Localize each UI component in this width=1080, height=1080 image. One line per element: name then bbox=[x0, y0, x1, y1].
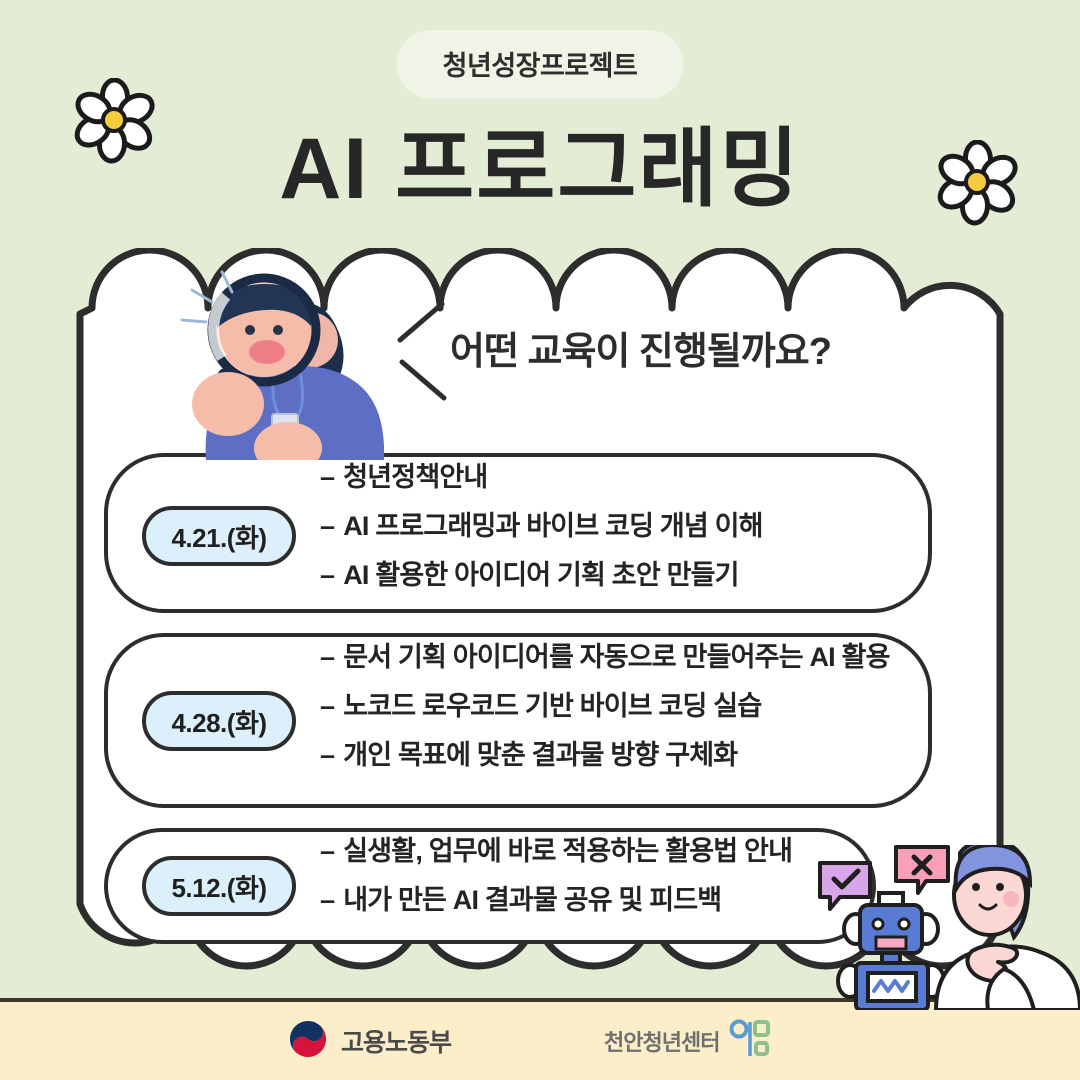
list-item-label: 개인 목표에 맞춘 결과물 방향 구체화 bbox=[343, 740, 737, 770]
bullet-dash: – bbox=[320, 462, 334, 492]
robot-and-woman-illustration bbox=[808, 845, 1080, 1015]
list-item: –문서 기획 아이디어를 자동으로 만들어주는 AI 활용 bbox=[320, 644, 890, 671]
person-with-magnifier-illustration bbox=[170, 268, 386, 465]
bullet-dash: – bbox=[320, 740, 334, 770]
bullet-dash: – bbox=[320, 511, 334, 541]
bullet-dash: – bbox=[320, 642, 334, 672]
daisy-flower-icon bbox=[935, 140, 1021, 231]
list-item: –실생활, 업무에 바로 적용하는 활용법 안내 bbox=[320, 838, 792, 865]
list-item: –내가 만든 AI 결과물 공유 및 피드백 bbox=[320, 887, 792, 914]
page-title: AI 프로그래밍 bbox=[0, 126, 1080, 212]
list-item: –AI 활용한 아이디어 기획 초안 만들기 bbox=[320, 562, 763, 589]
speech-lines-icon bbox=[392, 296, 452, 411]
list-item-label: AI 프로그래밍과 바이브 코딩 개념 이해 bbox=[343, 511, 763, 541]
center-label: 천안청년센터 bbox=[604, 1025, 719, 1057]
ministry-logo: 고용노동부 bbox=[288, 1019, 451, 1064]
schedule-items: –문서 기획 아이디어를 자동으로 만들어주는 AI 활용 –노코드 로우코드 … bbox=[320, 644, 890, 791]
hero-question: 어떤 교육이 진행될까요? bbox=[450, 320, 831, 375]
bullet-dash: – bbox=[320, 691, 334, 721]
date-badge: 4.21.(화) bbox=[142, 506, 296, 566]
poster-canvas: 청년성장프로젝트 AI 프로그래밍 bbox=[0, 0, 1080, 1080]
bullet-dash: – bbox=[320, 836, 334, 866]
list-item: –청년정책안내 bbox=[320, 464, 763, 491]
center-logo: 천안청년센터 bbox=[604, 1018, 771, 1065]
list-item: –개인 목표에 맞춘 결과물 방향 구체화 bbox=[320, 742, 890, 769]
list-item-label: 실생활, 업무에 바로 적용하는 활용법 안내 bbox=[343, 836, 792, 866]
ministry-label: 고용노동부 bbox=[341, 1023, 451, 1059]
x-speech-bubble-icon bbox=[896, 847, 948, 893]
date-badge: 5.12.(화) bbox=[142, 856, 296, 916]
list-item-label: 문서 기획 아이디어를 자동으로 만들어주는 AI 활용 bbox=[343, 642, 889, 672]
check-speech-bubble-icon bbox=[820, 863, 870, 909]
list-item-label: 내가 만든 AI 결과물 공유 및 피드백 bbox=[343, 885, 721, 915]
schedule-items: –실생활, 업무에 바로 적용하는 활용법 안내 –내가 만든 AI 결과물 공… bbox=[320, 838, 792, 936]
taegeuk-logo-icon bbox=[288, 1019, 328, 1064]
bullet-dash: – bbox=[320, 560, 334, 590]
bullet-dash: – bbox=[320, 885, 334, 915]
list-item: –AI 프로그래밍과 바이브 코딩 개념 이해 bbox=[320, 513, 763, 540]
list-item-label: 청년정책안내 bbox=[343, 462, 487, 492]
list-item-label: 노코드 로우코드 기반 바이브 코딩 실습 bbox=[343, 691, 761, 721]
schedule-items: –청년정책안내 –AI 프로그래밍과 바이브 코딩 개념 이해 –AI 활용한 … bbox=[320, 464, 763, 611]
list-item: –노코드 로우코드 기반 바이브 코딩 실습 bbox=[320, 693, 890, 720]
list-item-label: AI 활용한 아이디어 기획 초안 만들기 bbox=[343, 560, 738, 590]
daisy-flower-icon bbox=[72, 78, 158, 169]
program-badge: 청년성장프로젝트 bbox=[397, 30, 684, 99]
ieum-logo-icon bbox=[729, 1018, 771, 1065]
date-badge: 4.28.(화) bbox=[142, 691, 296, 751]
